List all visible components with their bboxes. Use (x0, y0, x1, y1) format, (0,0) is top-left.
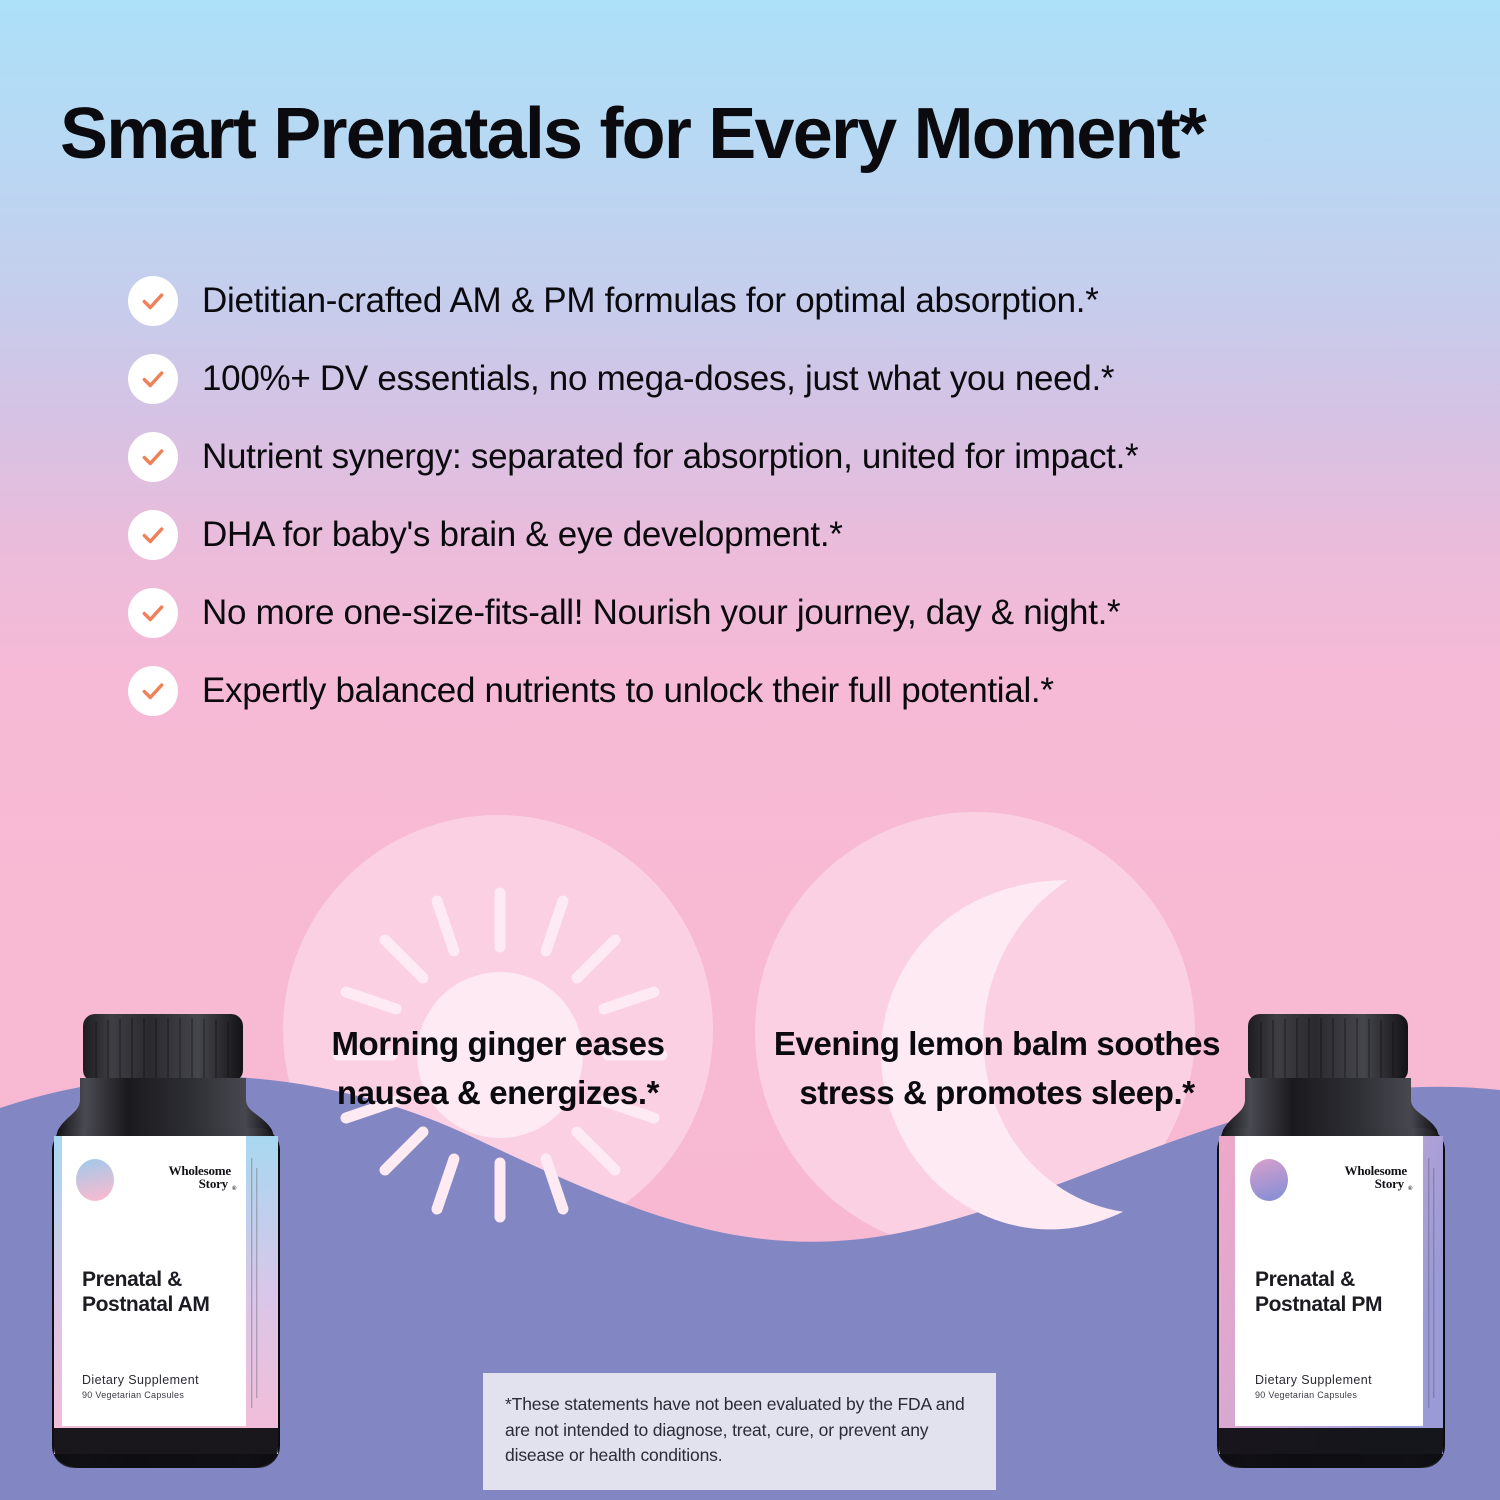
list-item: DHA for baby's brain & eye development.* (128, 506, 1458, 564)
list-item-label: Nutrient synergy: separated for absorpti… (202, 437, 1138, 477)
brand-registered-mark: ® (232, 1185, 237, 1192)
list-item: 100%+ DV essentials, no mega-doses, just… (128, 350, 1458, 408)
list-item-label: 100%+ DV essentials, no mega-doses, just… (202, 359, 1114, 399)
list-item: Dietitian-crafted AM & PM formulas for o… (128, 272, 1458, 330)
list-item-label: No more one-size-fits-all! Nourish your … (202, 593, 1120, 633)
check-icon (128, 510, 178, 560)
brand-dot-icon (76, 1159, 114, 1201)
brand-registered-mark: ® (1408, 1185, 1413, 1192)
bottle-base (54, 1428, 278, 1468)
list-item: Nutrient synergy: separated for absorpti… (128, 428, 1458, 486)
product-count: 90 Vegetarian Capsules (82, 1390, 184, 1400)
bottle-cap (83, 1014, 243, 1082)
brand-line2: Story (199, 1176, 229, 1191)
product-subtitle: Dietary Supplement (1255, 1373, 1372, 1387)
am-caption-line1: Morning ginger eases (288, 1020, 708, 1069)
pm-caption: Evening lemon balm soothes stress & prom… (752, 1020, 1242, 1118)
list-item: Expertly balanced nutrients to unlock th… (128, 662, 1458, 720)
check-icon (128, 666, 178, 716)
fda-disclaimer-text: *These statements have not been evaluate… (505, 1392, 974, 1469)
am-caption-line2: nausea & energizes.* (288, 1069, 708, 1118)
benefits-list: Dietitian-crafted AM & PM formulas for o… (128, 272, 1458, 720)
brand-dot-icon (1250, 1159, 1288, 1201)
product-title-line2: Postnatal AM (82, 1293, 209, 1316)
bottle-base (1219, 1428, 1443, 1468)
check-icon (128, 276, 178, 326)
list-item-label: Expertly balanced nutrients to unlock th… (202, 671, 1054, 711)
product-bottle-am[interactable]: Wholesome Story ® Prenatal & Postnatal A… (40, 1008, 340, 1478)
product-count: 90 Vegetarian Capsules (1255, 1390, 1357, 1400)
product-title-line1: Prenatal & (82, 1268, 182, 1291)
page-title: Smart Prenatals for Every Moment* (60, 98, 1460, 170)
check-icon (128, 432, 178, 482)
fda-disclaimer: *These statements have not been evaluate… (483, 1373, 996, 1490)
product-bottle-pm[interactable]: Wholesome Story ® Prenatal & Postnatal P… (1188, 1008, 1488, 1478)
product-title-line2: Postnatal PM (1255, 1293, 1382, 1316)
check-icon (128, 588, 178, 638)
product-subtitle: Dietary Supplement (82, 1373, 199, 1387)
brand-line2: Story (1375, 1176, 1405, 1191)
pm-caption-line2: stress & promotes sleep.* (752, 1069, 1242, 1118)
check-icon (128, 354, 178, 404)
bottle-cap (1248, 1014, 1408, 1082)
list-item-label: DHA for baby's brain & eye development.* (202, 515, 843, 555)
list-item-label: Dietitian-crafted AM & PM formulas for o… (202, 281, 1099, 321)
am-caption: Morning ginger eases nausea & energizes.… (288, 1020, 708, 1118)
product-title-line1: Prenatal & (1255, 1268, 1355, 1291)
pm-caption-line1: Evening lemon balm soothes (752, 1020, 1242, 1069)
list-item: No more one-size-fits-all! Nourish your … (128, 584, 1458, 642)
